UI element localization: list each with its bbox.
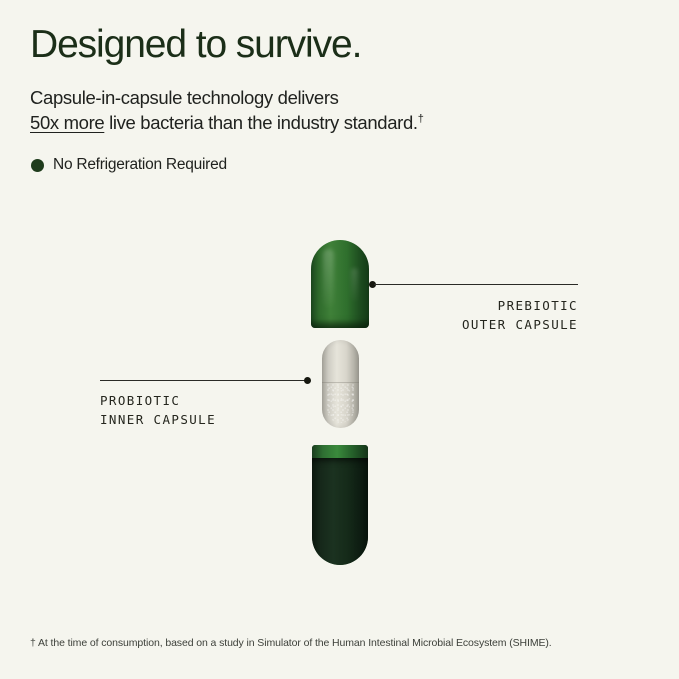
capsule-powder-texture — [327, 384, 354, 423]
capsule-highlight-secondary — [351, 268, 358, 302]
probiotic-leader-line — [100, 380, 306, 381]
capsule-highlight — [323, 249, 334, 307]
feature-bullet: No Refrigeration Required — [31, 156, 227, 174]
probiotic-leader-dot-icon — [304, 377, 311, 384]
capsule-seam — [322, 382, 359, 383]
capsule-rim — [312, 445, 368, 459]
prebiotic-leader-dot-icon — [369, 281, 376, 288]
green-filled-capsule-body — [312, 445, 368, 565]
subheadline-emphasis: 50x more — [30, 112, 104, 133]
capsule-fill — [312, 458, 368, 565]
label-prebiotic-outer-capsule: PREBIOTIC OUTER CAPSULE — [462, 296, 578, 334]
subheadline: Capsule-in-capsule technology delivers 5… — [30, 85, 423, 135]
label-probiotic-inner-capsule: PROBIOTIC INNER CAPSULE — [100, 391, 216, 429]
footnote-marker: † — [418, 113, 424, 125]
page-title: Designed to survive. — [30, 22, 361, 68]
feature-bullet-label: No Refrigeration Required — [53, 156, 227, 174]
subheadline-line-1: Capsule-in-capsule technology delivers — [30, 87, 339, 108]
white-inner-capsule — [322, 340, 359, 428]
product-info-panel: Designed to survive. Capsule-in-capsule … — [0, 0, 679, 679]
subheadline-line-2: live bacteria than the industry standard… — [104, 112, 417, 133]
green-outer-capsule-cap — [311, 240, 369, 328]
prebiotic-leader-line — [374, 284, 578, 285]
bullet-dot-icon — [31, 159, 44, 172]
footnote-text: † At the time of consumption, based on a… — [30, 636, 552, 650]
